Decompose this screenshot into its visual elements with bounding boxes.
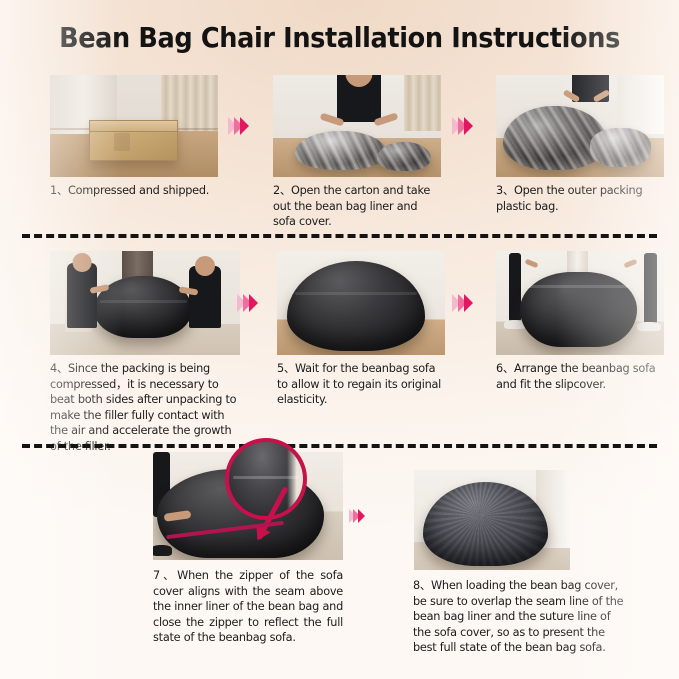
step-8: 8、When loading the bean bag cover, be su… xyxy=(413,470,631,656)
section-divider-1 xyxy=(22,234,657,238)
step-4-caption: 4、Since the packing is being compressed，… xyxy=(50,361,240,455)
step-8-caption: 8、When loading the bean bag cover, be su… xyxy=(413,578,631,656)
step-1-caption: 1、Compressed and shipped. xyxy=(50,183,218,199)
step-7-caption: 7、When the zipper of the sofa cover alig… xyxy=(153,568,343,646)
step-1: 1、Compressed and shipped. xyxy=(50,75,218,199)
pink-triple-chevron-right xyxy=(464,117,473,135)
step-2: 2、Open the carton and take out the bean … xyxy=(273,75,441,230)
arrow-step-5-to-6 xyxy=(455,294,473,312)
step-6-photo-people-fitting-slipcover xyxy=(496,251,664,355)
page-title: Bean Bag Chair Installation Instructions xyxy=(24,22,655,54)
step-7: 7、When the zipper of the sofa cover alig… xyxy=(153,452,343,646)
section-divider-2 xyxy=(22,444,657,448)
infographic-page: Bean Bag Chair Installation Instructions… xyxy=(0,0,679,679)
step-4-photo-two-people-beating-bean-bag xyxy=(50,251,240,355)
step-5-photo-inflated-black-bean-bag xyxy=(277,251,445,355)
pink-triple-chevron-right xyxy=(358,509,365,523)
step-5-caption: 5、Wait for the beanbag sofa to allow it … xyxy=(277,361,445,408)
arrow-step-1-to-2 xyxy=(231,117,249,135)
step-6: 6、Arrange the beanbag sofa and fit the s… xyxy=(496,251,664,392)
step-2-caption: 2、Open the carton and take out the bean … xyxy=(273,183,441,230)
arrow-step-4-to-5 xyxy=(240,294,258,312)
arrow-step-7-to-8 xyxy=(351,509,365,523)
zipper-magnifier-callout xyxy=(225,438,307,520)
step-3-caption: 3、Open the outer packing plastic bag. xyxy=(496,183,664,214)
step-5: 5、Wait for the beanbag sofa to allow it … xyxy=(277,251,445,408)
step-8-photo-finished-grey-fur-bean-bag xyxy=(414,470,570,570)
step-1-photo-cardboard-carton-on-floor xyxy=(50,75,218,177)
step-3: 3、Open the outer packing plastic bag. xyxy=(496,75,664,214)
step-3-photo-person-opening-plastic-bag xyxy=(496,75,664,177)
pink-triple-chevron-right xyxy=(249,294,258,312)
step-2-photo-person-opening-vacuum-bag xyxy=(273,75,441,177)
step-4: 4、Since the packing is being compressed，… xyxy=(50,251,240,455)
pink-triple-chevron-right xyxy=(240,117,249,135)
arrow-step-2-to-3 xyxy=(455,117,473,135)
pink-triple-chevron-right xyxy=(464,294,473,312)
step-6-caption: 6、Arrange the beanbag sofa and fit the s… xyxy=(496,361,664,392)
